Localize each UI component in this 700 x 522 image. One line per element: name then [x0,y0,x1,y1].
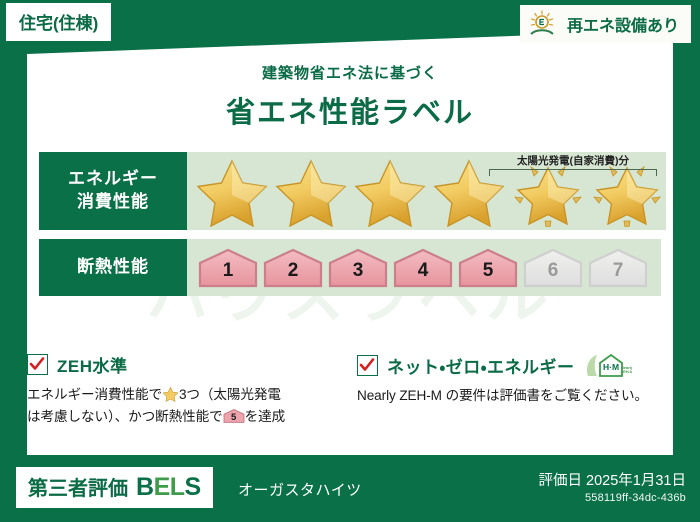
energy-row-body: 太陽光発電(自家消費)分 [187,152,666,230]
performance-rows: エネルギー 消費性能 [39,152,661,305]
bels-wordmark: BELS [136,473,201,502]
bels-letter-b: B [136,473,154,501]
criteria-zeh-header: ZEH水準 [27,352,343,377]
energy-label-line2: 消費性能 [77,191,149,214]
svg-text:ZEH-M: ZEH-M [620,369,631,374]
star-filled-3 [351,155,429,227]
zeh-m-logo-icon: H·M Nearly ZEH-M [586,352,632,378]
building-type-tag: 住宅(住棟) [6,3,111,41]
insulation-chip-4: 4 [392,247,454,289]
energy-performance-row: エネルギー 消費性能 [39,152,661,230]
inline-chip-value: 5 [223,410,245,425]
star-solar-6 [588,155,666,227]
insulation-chip-3-value: 3 [327,260,389,282]
evaluation-id: 558119ff-34dc-436b [539,492,686,504]
zeh-body-part2: は考慮しない）、かつ断熱性能で [27,409,223,424]
criteria-nzeb-body: Nearly ZEH-M の要件は評価書をご覧ください。 [357,385,665,407]
renewable-badge-label: 再エネ設備あり [567,12,679,36]
footer-meta: 評価日 2025年1月31日 558119ff-34dc-436b [539,469,686,504]
star-rating [193,155,666,227]
star-filled-4 [430,155,508,227]
criteria-nzeb: ネット・ゼロ・エネルギー H·M Nearly ZEH-M Nearly ZEH… [357,352,673,428]
criteria-nzeb-header: ネット・ゼロ・エネルギー H·M Nearly ZEH-M [357,352,665,378]
insulation-chip-5-value: 5 [457,260,519,282]
zeh-body-part1: エネルギー消費性能で [27,387,162,402]
insulation-chip-5: 5 [457,247,519,289]
insulation-row-label: 断熱性能 [39,239,187,296]
inline-chip-icon: 5 [223,408,245,424]
building-name: オーガスタハイツ [238,479,362,500]
insulation-label: 断熱性能 [77,256,149,279]
zeh-body-part3: を達成 [245,409,285,424]
insulation-chip-6-value: 6 [522,260,584,282]
inline-star-icon [162,386,179,402]
criteria-zeh: ZEH水準 エネルギー消費性能で3つ（太陽光発電は考慮しない）、かつ断熱性能で5… [27,352,357,428]
energy-performance-label: ハウスラベル 建築物省エネ法に基づく 省エネ性能ラベル エネルギー 消費性能 [0,0,700,522]
zeh-body-starcount: 3つ（太陽光発電 [179,387,281,402]
insulation-chip-2: 2 [262,247,324,289]
bels-letter-s: S [185,473,201,501]
star-solar-5 [509,155,587,227]
star-filled-1 [193,155,271,227]
title-subtitle: 建築物省エネ法に基づく [27,62,673,83]
insulation-row-body: 1 2 3 4 [187,239,661,296]
insulation-chip-3: 3 [327,247,389,289]
bels-letter-el: EL [154,473,185,501]
insulation-chip-7-value: 7 [587,260,649,282]
criteria-zeh-title: ZEH水準 [57,352,128,377]
criteria-section: ZEH水準 エネルギー消費性能で3つ（太陽光発電は考慮しない）、かつ断熱性能で5… [27,352,673,428]
energy-row-label: エネルギー 消費性能 [39,152,187,230]
insulation-chip-4-value: 4 [392,260,454,282]
check-icon [27,354,48,375]
label-footer: 第三者評価 BELS オーガスタハイツ 評価日 2025年1月31日 55811… [0,455,700,522]
insulation-chip-6: 6 [522,247,584,289]
criteria-nzeb-title: ネット・ゼロ・エネルギー [387,353,575,378]
check-icon [357,355,378,376]
insulation-chip-7: 7 [587,247,649,289]
star-filled-2 [272,155,350,227]
svg-text:H·M: H·M [603,362,619,372]
insulation-chip-1-value: 1 [197,260,259,282]
sun-solar-icon [528,10,560,38]
bels-jp-label: 第三者評価 [28,472,128,501]
renewable-energy-badge: 再エネ設備あり [520,5,691,43]
label-title-block: 建築物省エネ法に基づく 省エネ性能ラベル [27,62,673,131]
bels-plate: 第三者評価 BELS [16,467,213,508]
insulation-grade-chips: 1 2 3 4 [193,247,649,289]
criteria-zeh-body: エネルギー消費性能で3つ（太陽光発電は考慮しない）、かつ断熱性能で5を達成 [27,384,343,428]
insulation-chip-2-value: 2 [262,260,324,282]
energy-label-line1: エネルギー [68,168,158,191]
insulation-chip-1: 1 [197,247,259,289]
evaluation-date: 評価日 2025年1月31日 [539,469,686,490]
insulation-performance-row: 断熱性能 1 [39,239,661,296]
page-title: 省エネ性能ラベル [27,89,673,131]
